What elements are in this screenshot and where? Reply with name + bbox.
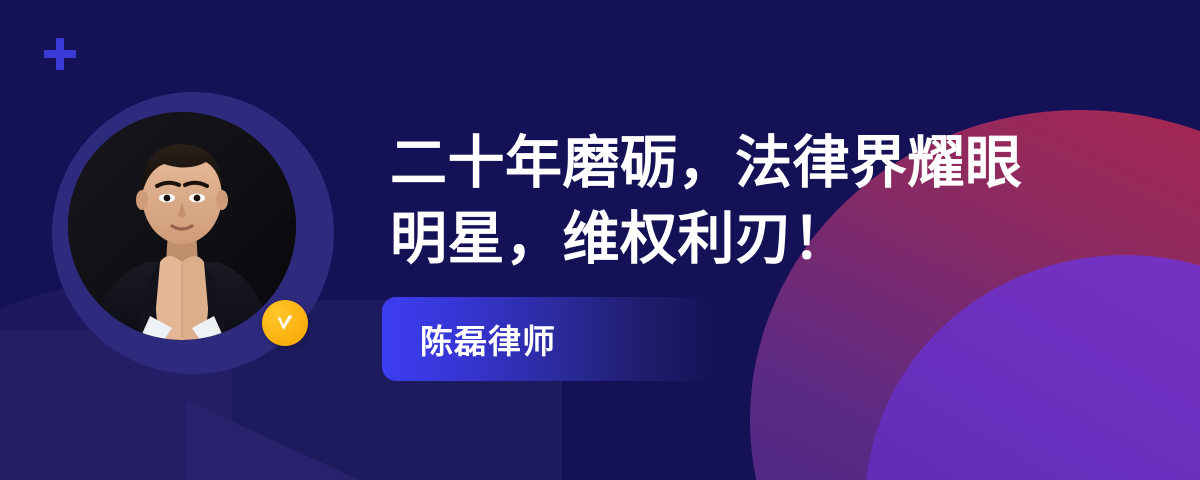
avatar[interactable] bbox=[52, 92, 334, 374]
gradient-circle-inner-shape bbox=[865, 255, 1200, 480]
plus-icon bbox=[44, 38, 76, 70]
promo-banner: 二十年磨砺，法律界耀眼 明星，维权利刃！ 陈磊律师 bbox=[0, 0, 1200, 480]
name-badge-label: 陈磊律师 bbox=[420, 315, 556, 363]
name-badge[interactable]: 陈磊律师 bbox=[382, 297, 716, 381]
avatar-photo bbox=[68, 112, 296, 340]
page-title: 二十年磨砺，法律界耀眼 明星，维权利刃！ bbox=[390, 126, 1090, 278]
triangle-wedge-shape bbox=[186, 400, 446, 480]
verified-badge-icon bbox=[262, 300, 308, 346]
